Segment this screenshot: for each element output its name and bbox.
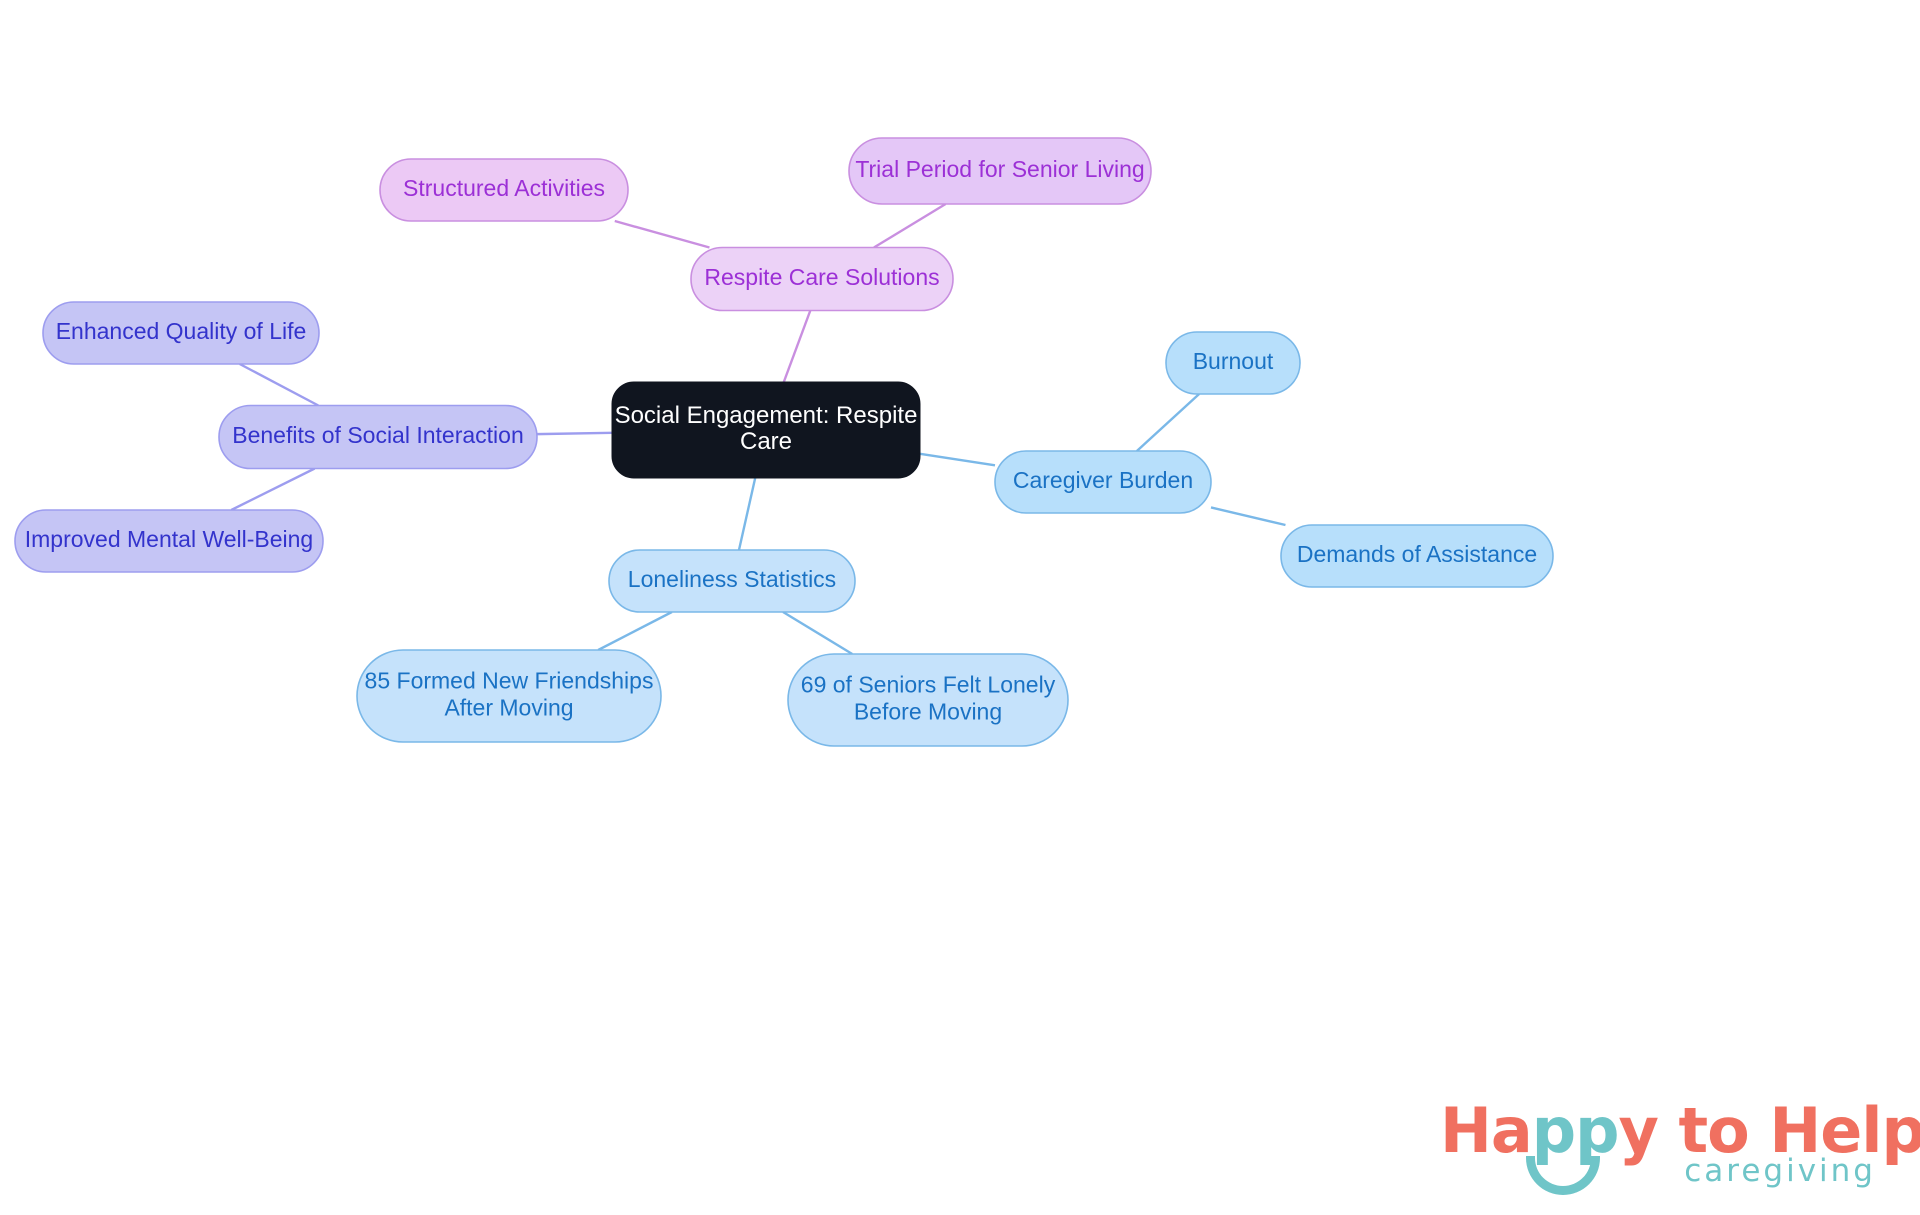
node-label: Trial Period for Senior Living [855, 156, 1144, 182]
mindmap-node-demands-of-assistance[interactable]: Demands of Assistance [1281, 525, 1553, 587]
mindmap-node-trial-period-for-senior-living[interactable]: Trial Period for Senior Living [849, 138, 1151, 204]
logo-text-y: y [1619, 1094, 1658, 1167]
nodes-group: Structured ActivitiesTrial Period for Se… [15, 138, 1553, 746]
node-label: Structured Activities [403, 175, 605, 201]
logo-text-ha: Ha [1440, 1094, 1532, 1167]
mindmap-node-enhanced-quality-of-life[interactable]: Enhanced Quality of Life [43, 302, 319, 364]
connector-line [231, 469, 314, 511]
connector-line [920, 454, 995, 466]
mindmap-node-85-formed-new-friendships-after-moving[interactable]: 85 Formed New FriendshipsAfter Moving [357, 650, 661, 742]
node-label: Burnout [1193, 348, 1274, 374]
mindmap-node-respite-care-solutions[interactable]: Respite Care Solutions [691, 248, 953, 311]
connector-line [784, 311, 811, 383]
node-label: Enhanced Quality of Life [56, 318, 307, 344]
connector-line [783, 612, 852, 654]
connector-line [537, 433, 612, 434]
node-label: Caregiver Burden [1013, 467, 1193, 493]
mindmap-canvas: Structured ActivitiesTrial Period for Se… [0, 0, 1920, 1215]
node-label: Loneliness Statistics [628, 566, 836, 592]
connector-line [240, 364, 319, 406]
smile-icon [1526, 1156, 1600, 1195]
mindmap-node-structured-activities[interactable]: Structured Activities [380, 159, 628, 221]
connector-line [1137, 394, 1199, 451]
connector-line [874, 204, 946, 248]
connector-line [615, 221, 710, 248]
mindmap-node-root[interactable]: Social Engagement: RespiteCare [612, 382, 920, 478]
brand-logo: Happy to Help caregiving [1440, 1100, 1880, 1205]
mindmap-node-improved-mental-well-being[interactable]: Improved Mental Well-Being [15, 510, 323, 572]
node-label: Demands of Assistance [1297, 541, 1537, 567]
node-label: Respite Care Solutions [704, 264, 939, 290]
mindmap-node-caregiver-burden[interactable]: Caregiver Burden [995, 451, 1211, 513]
node-label: Benefits of Social Interaction [232, 422, 524, 448]
connector-line [739, 478, 755, 550]
connector-line [1211, 507, 1285, 525]
mindmap-node-burnout[interactable]: Burnout [1166, 332, 1300, 394]
mindmap-node-loneliness-statistics[interactable]: Loneliness Statistics [609, 550, 855, 612]
node-label: Improved Mental Well-Being [25, 526, 313, 552]
connector-line [598, 612, 672, 650]
mindmap-node-benefits-of-social-interaction[interactable]: Benefits of Social Interaction [219, 406, 537, 469]
mindmap-node-69-of-seniors-felt-lonely-before-moving[interactable]: 69 of Seniors Felt LonelyBefore Moving [788, 654, 1068, 746]
